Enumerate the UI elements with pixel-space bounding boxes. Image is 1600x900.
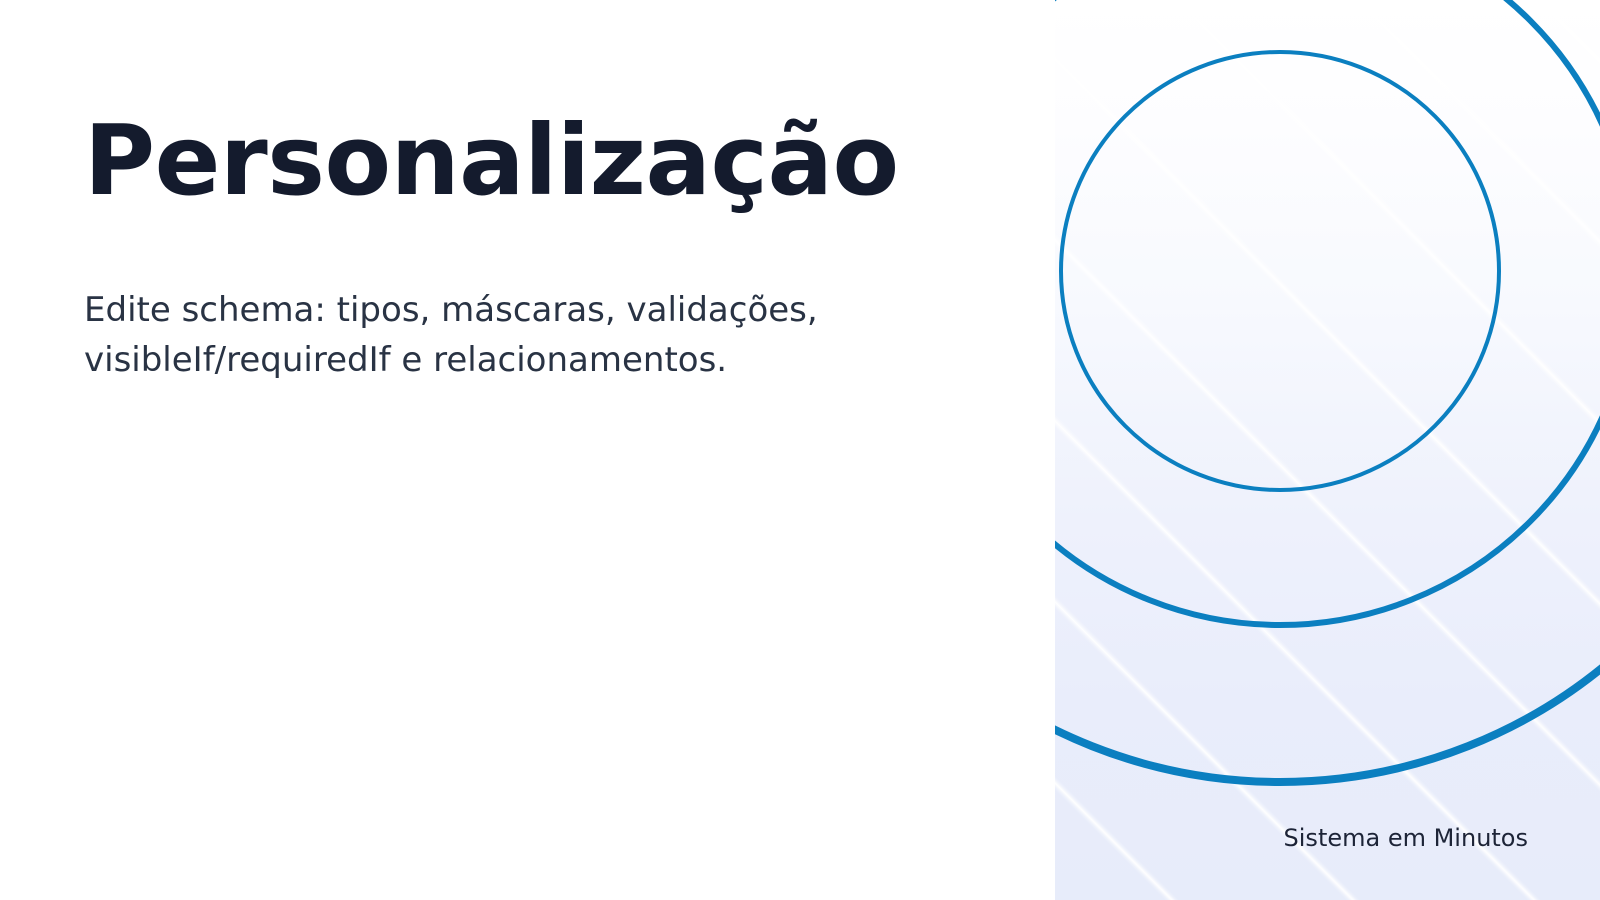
decorative-panel: Sistema em Minutos <box>1055 0 1600 900</box>
slide-title: Personalização <box>84 112 899 209</box>
outer-ring-circle <box>1055 0 1600 782</box>
slide-subtitle: Edite schema: tipos, máscaras, validaçõe… <box>84 286 1034 385</box>
slide-subtitle-line-1: Edite schema: tipos, máscaras, validaçõe… <box>84 290 818 330</box>
slide-subtitle-line-2: visibleIf/requiredIf e relacionamentos. <box>84 340 727 380</box>
slide-canvas: Sistema em Minutos Personalização Edite … <box>0 0 1600 900</box>
footer-brand-label: Sistema em Minutos <box>1284 824 1528 852</box>
concentric-rings-graphic <box>1055 0 1600 900</box>
inner-ring-circle <box>1061 52 1499 490</box>
middle-ring-circle <box>1055 0 1600 625</box>
